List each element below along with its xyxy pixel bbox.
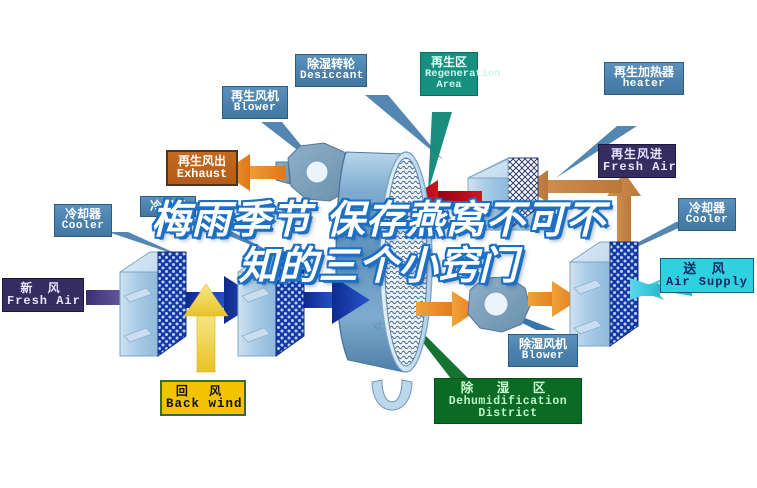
cooler-unit-1 xyxy=(120,252,186,356)
desiccant-rotor: xt xyxy=(336,152,432,410)
label-air-supply-en: Air Supply xyxy=(665,276,749,289)
cooler-unit-right xyxy=(570,242,638,346)
dehumid-fan xyxy=(468,277,530,332)
label-fresh-air[interactable]: 新 风 Fresh Air xyxy=(2,278,84,312)
label-desiccant[interactable]: 除湿转轮 Desiccant xyxy=(295,54,367,87)
label-regeneration-area-en: Regeneration Area xyxy=(425,69,473,92)
label-regen-heater-en: heater xyxy=(609,79,679,91)
label-back-wind[interactable]: 回 风 Back wind xyxy=(160,380,246,416)
label-cooler-right-en: Cooler xyxy=(683,215,731,227)
label-air-supply[interactable]: 送 风 Air Supply xyxy=(660,258,754,293)
label-exhaust-cn: 再生风出 xyxy=(172,155,232,168)
label-cooler-left-1-cn: 冷却器 xyxy=(59,208,107,221)
label-back-wind-cn: 回 风 xyxy=(166,385,240,398)
cooler-unit-2 xyxy=(238,252,304,356)
label-regen-blower-en: Blower xyxy=(227,103,283,115)
label-regeneration-area-cn: 再生区 xyxy=(425,56,473,69)
rotor-watermark: xt xyxy=(372,318,383,333)
label-cooler-right[interactable]: 冷却器 Cooler xyxy=(678,198,736,231)
label-cooler-left-2-cn: 冷却器 xyxy=(145,200,191,213)
label-dehumid-blower-cn: 除湿风机 xyxy=(513,338,573,351)
label-regeneration-area[interactable]: 再生区 Regeneration Area xyxy=(420,52,478,96)
label-desiccant-en: Desiccant xyxy=(300,71,362,83)
label-back-wind-en: Back wind xyxy=(166,398,240,412)
label-regen-heater[interactable]: 再生加热器 heater xyxy=(604,62,684,95)
label-fresh-air-cn: 新 风 xyxy=(7,282,79,295)
label-dehumid-district[interactable]: 除 湿 区 Dehumidification District xyxy=(434,378,582,424)
label-regen-heater-cn: 再生加热器 xyxy=(609,66,679,79)
label-dehumid-district-en: Dehumidification District xyxy=(439,396,577,421)
label-regen-fresh-air[interactable]: 再生风进 Fresh Air xyxy=(598,144,676,178)
label-regen-blower[interactable]: 再生风机 Blower xyxy=(222,86,288,119)
label-cooler-left-1[interactable]: 冷却器 Cooler xyxy=(54,204,112,237)
label-regen-fresh-air-en: Fresh Air xyxy=(603,161,671,174)
label-cooler-left-2[interactable]: 冷却器 xyxy=(140,196,196,217)
label-dehumid-blower-en: Blower xyxy=(513,351,573,363)
label-cooler-left-1-en: Cooler xyxy=(59,221,107,233)
label-regen-fresh-air-cn: 再生风进 xyxy=(603,148,671,161)
leader-regen-area xyxy=(428,112,452,192)
label-dehumid-blower[interactable]: 除湿风机 Blower xyxy=(508,334,578,367)
label-cooler-right-cn: 冷却器 xyxy=(683,202,731,215)
diagram-canvas: xt xyxy=(0,0,757,488)
label-fresh-air-en: Fresh Air xyxy=(7,295,79,308)
label-dehumid-district-cn: 除 湿 区 xyxy=(439,382,577,396)
label-regen-blower-cn: 再生风机 xyxy=(227,90,283,103)
label-exhaust[interactable]: 再生风出 Exhaust xyxy=(166,150,238,186)
label-desiccant-cn: 除湿转轮 xyxy=(300,58,362,71)
label-air-supply-cn: 送 风 xyxy=(665,262,749,276)
label-exhaust-en: Exhaust xyxy=(172,168,232,181)
